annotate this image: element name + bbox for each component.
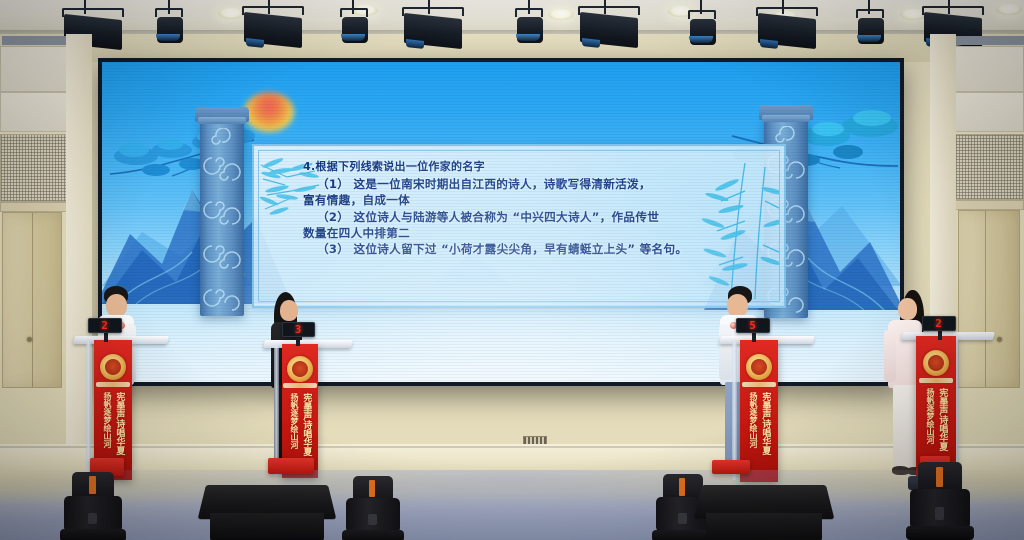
emblem-icon — [923, 350, 949, 376]
score-display-stand-1 — [104, 332, 108, 342]
stage-scene: 4.根据下列线索说出一位作家的名字 （1） 这是一位南宋时期出自江西的诗人，诗歌… — [0, 0, 1024, 540]
head — [280, 300, 298, 321]
moving-head-light-4 — [906, 462, 974, 540]
door-header-right — [952, 200, 1024, 210]
podium-3[interactable]: 扬帆逐梦绘山河 宪墨声诗唱华夏 — [718, 336, 814, 480]
score-display-4: 2 — [922, 316, 956, 331]
wall-panel-mid-right — [948, 92, 1024, 132]
stage-monitor-right — [698, 482, 830, 540]
banner-column-left: 扬帆逐梦绘山河 — [290, 393, 298, 456]
screen-scanlines — [102, 62, 900, 382]
banner-couplet: 扬帆逐梦绘山河 宪墨声诗唱华夏 — [740, 392, 778, 455]
upper-beam-right — [950, 36, 1024, 45]
banner-column-right: 宪墨声诗唱华夏 — [937, 388, 946, 451]
banner-couplet: 扬帆逐梦绘山河 宪墨声诗唱华夏 — [94, 392, 132, 455]
stage-monitor-left — [202, 482, 332, 540]
door-header-left — [0, 202, 70, 212]
arm — [884, 330, 896, 382]
floor-light-wash — [0, 470, 1024, 540]
recessed-spot-light — [218, 8, 244, 19]
banner-column-right: 宪墨声诗唱华夏 — [301, 393, 310, 456]
acoustic-panel-left — [0, 134, 70, 202]
wall-panel-upper-right — [944, 46, 1024, 92]
upper-beam-left — [2, 36, 76, 45]
banner-couplet: 扬帆逐梦绘山河 宪墨声诗唱华夏 — [282, 393, 318, 456]
recessed-spot-light — [548, 9, 574, 20]
banner-couplet: 扬帆逐梦绘山河 宪墨声诗唱华夏 — [916, 388, 956, 451]
score-digits: 3 — [295, 323, 303, 336]
emblem-subtitle — [283, 383, 317, 388]
score-digits: 2 — [935, 317, 943, 330]
podium-4[interactable]: 扬帆逐梦绘山河 宪墨声诗唱华夏 — [902, 332, 998, 482]
wall-panel-mid-left — [0, 92, 76, 132]
acoustic-panel-right — [952, 134, 1024, 200]
score-display-stand-4 — [938, 330, 942, 340]
podium-stem — [274, 346, 279, 476]
emblem-subtitle — [96, 382, 130, 387]
banner-column-left: 扬帆逐梦绘山河 — [103, 392, 111, 455]
emblem-icon — [100, 354, 126, 380]
score-display-stand-3 — [752, 332, 756, 342]
emblem-subtitle — [742, 382, 776, 387]
emblem-icon — [746, 354, 772, 380]
recessed-spot-light — [996, 4, 1022, 15]
red-case-back-right — [712, 460, 750, 474]
banner-column-right: 宪墨声诗唱华夏 — [114, 392, 123, 455]
emblem-icon — [287, 356, 313, 382]
screen-surface: 4.根据下列线索说出一位作家的名字 （1） 这是一位南宋时期出自江西的诗人，诗歌… — [102, 62, 900, 382]
score-digits: 5 — [749, 319, 757, 332]
moving-head-light-1 — [60, 472, 126, 540]
side-door-left[interactable] — [2, 212, 62, 388]
score-display-3: 5 — [736, 318, 770, 333]
score-display-1: 2 — [88, 318, 122, 333]
banner-column-left: 扬帆逐梦绘山河 — [926, 388, 934, 451]
banner-column-right: 宪墨声诗唱华夏 — [760, 392, 769, 455]
score-digits: 2 — [101, 319, 109, 332]
head — [898, 298, 917, 320]
score-display-2: 3 — [282, 322, 315, 337]
head — [106, 294, 127, 317]
banner-column-left: 扬帆逐梦绘山河 — [749, 392, 757, 455]
score-display-stand-2 — [296, 336, 300, 346]
moving-head-light-2 — [342, 476, 404, 540]
red-case-back-mid — [268, 458, 314, 474]
head — [727, 294, 748, 317]
emblem-subtitle — [919, 378, 953, 383]
